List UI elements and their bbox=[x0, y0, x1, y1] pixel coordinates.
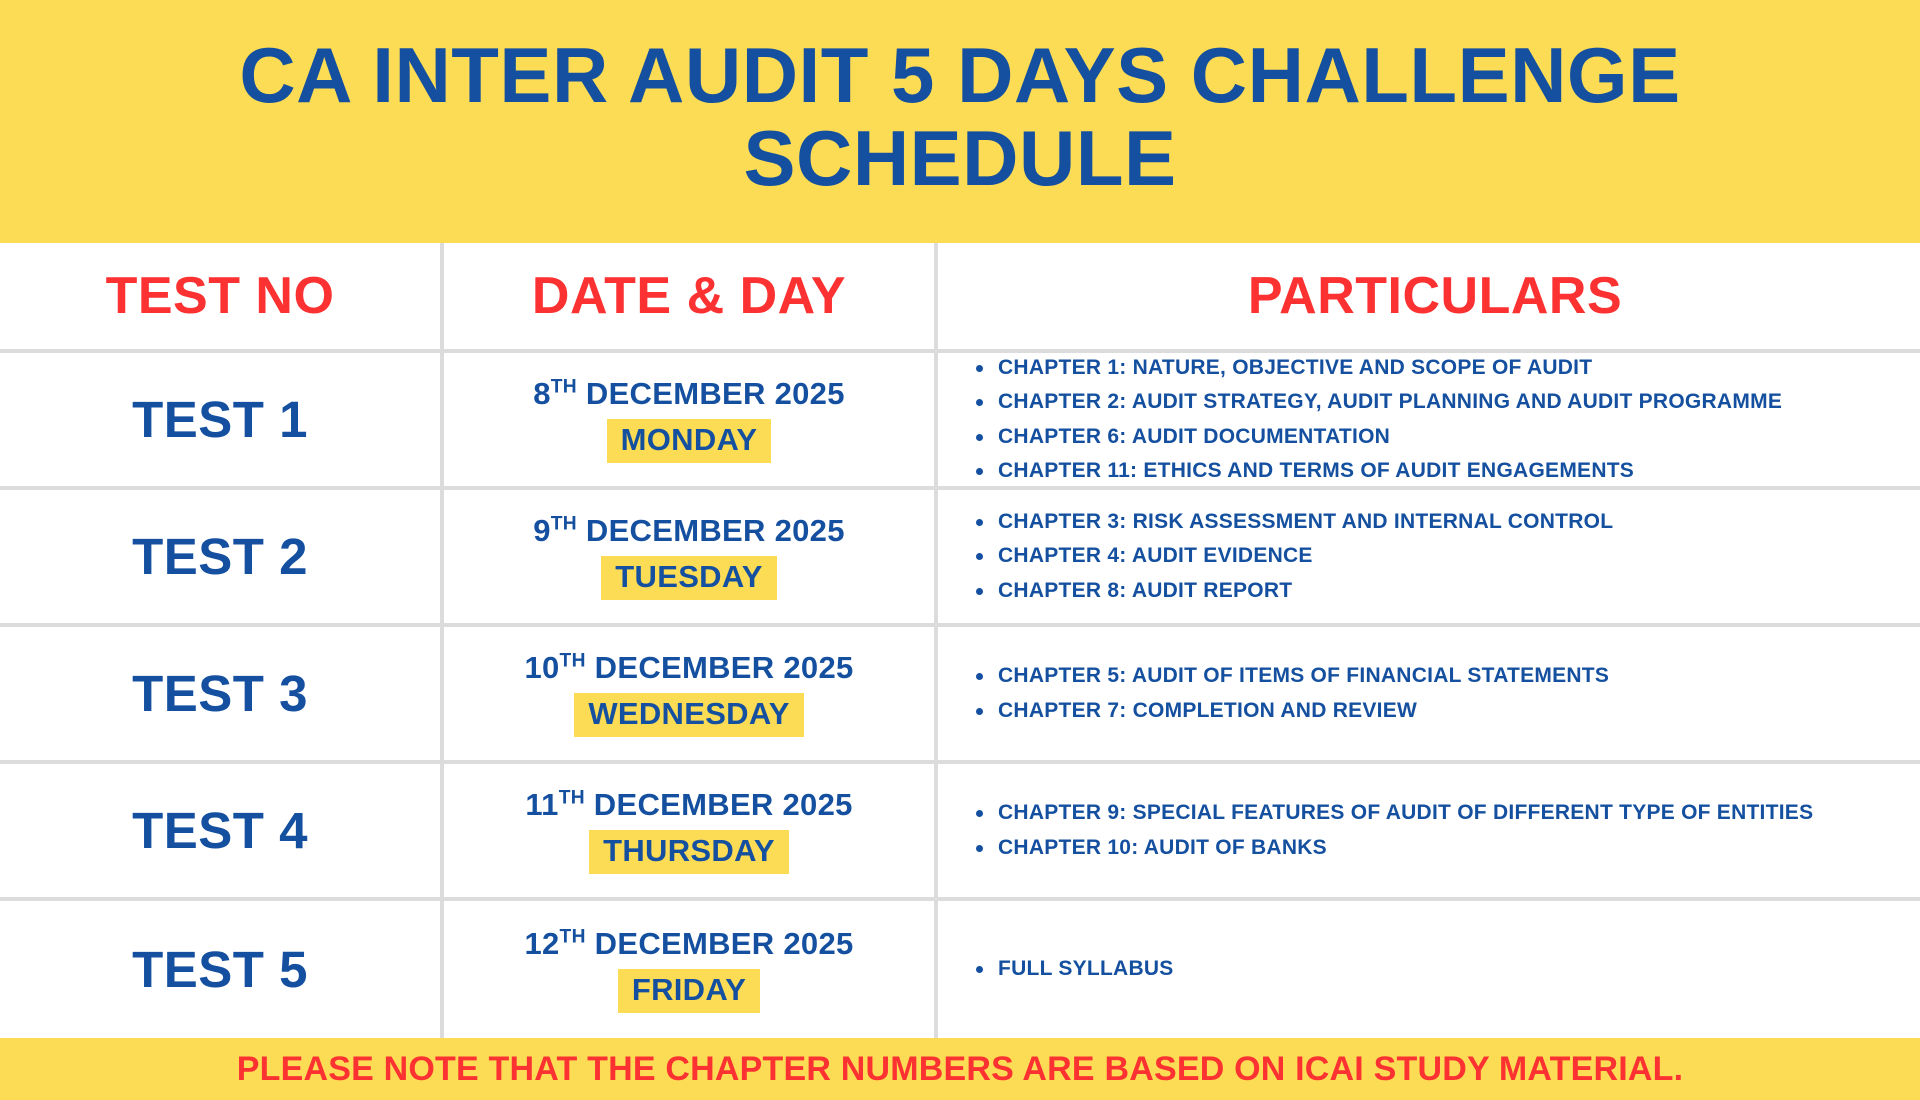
date-suffix: TH bbox=[560, 651, 586, 672]
list-item: CHAPTER 7: COMPLETION AND REVIEW bbox=[972, 694, 1898, 728]
column-header-label: TEST NO bbox=[106, 270, 335, 322]
list-item: CHAPTER 6: AUDIT DOCUMENTATION bbox=[972, 420, 1898, 454]
list-item: CHAPTER 5: AUDIT OF ITEMS OF FINANCIAL S… bbox=[972, 659, 1898, 693]
list-item: FULL SYLLABUS bbox=[972, 952, 1898, 986]
date-number: 12 bbox=[524, 926, 559, 961]
cell-particulars: CHAPTER 3: RISK ASSESSMENT AND INTERNAL … bbox=[938, 490, 1920, 623]
cell-date-day: 8TH DECEMBER 2025 MONDAY bbox=[444, 353, 938, 486]
cell-date-day: 9TH DECEMBER 2025 TUESDAY bbox=[444, 490, 938, 623]
particulars-list: CHAPTER 3: RISK ASSESSMENT AND INTERNAL … bbox=[972, 505, 1898, 607]
day-badge: WEDNESDAY bbox=[574, 693, 803, 737]
title-banner: CA INTER AUDIT 5 DAYS CHALLENGE SCHEDULE bbox=[0, 0, 1920, 243]
cell-date-day: 11TH DECEMBER 2025 THURSDAY bbox=[444, 764, 938, 897]
date-suffix: TH bbox=[559, 788, 585, 809]
list-item: CHAPTER 1: NATURE, OBJECTIVE AND SCOPE O… bbox=[972, 351, 1898, 385]
cell-test-no: TEST 3 bbox=[0, 627, 444, 760]
particulars-list: CHAPTER 9: SPECIAL FEATURES OF AUDIT OF … bbox=[972, 796, 1898, 864]
footer-banner: PLEASE NOTE THAT THE CHAPTER NUMBERS ARE… bbox=[0, 1038, 1920, 1100]
test-no-label: TEST 3 bbox=[132, 668, 308, 719]
cell-particulars: FULL SYLLABUS bbox=[938, 901, 1920, 1038]
list-item: CHAPTER 8: AUDIT REPORT bbox=[972, 574, 1898, 608]
day-badge: FRIDAY bbox=[618, 969, 760, 1013]
list-item: CHAPTER 11: ETHICS AND TERMS OF AUDIT EN… bbox=[972, 454, 1898, 488]
test-no-label: TEST 1 bbox=[132, 394, 308, 445]
date-suffix: TH bbox=[551, 377, 577, 398]
cell-particulars: CHAPTER 1: NATURE, OBJECTIVE AND SCOPE O… bbox=[938, 353, 1920, 486]
date-rest: DECEMBER 2025 bbox=[586, 650, 854, 685]
day-badge: MONDAY bbox=[607, 419, 772, 463]
table-row: TEST 2 9TH DECEMBER 2025 TUESDAY CHAPTER… bbox=[0, 490, 1920, 627]
column-header-label: DATE & DAY bbox=[532, 270, 846, 322]
cell-date-day: 10TH DECEMBER 2025 WEDNESDAY bbox=[444, 627, 938, 760]
column-header-date-day: DATE & DAY bbox=[444, 243, 938, 349]
table-header-row: TEST NO DATE & DAY PARTICULARS bbox=[0, 243, 1920, 353]
date-number: 10 bbox=[524, 650, 559, 685]
date-suffix: TH bbox=[551, 514, 577, 535]
table-row: TEST 4 11TH DECEMBER 2025 THURSDAY CHAPT… bbox=[0, 764, 1920, 901]
table-row: TEST 1 8TH DECEMBER 2025 MONDAY CHAPTER … bbox=[0, 353, 1920, 490]
date-label: 9TH DECEMBER 2025 bbox=[533, 513, 845, 549]
date-label: 10TH DECEMBER 2025 bbox=[524, 650, 853, 686]
date-rest: DECEMBER 2025 bbox=[586, 926, 854, 961]
date-suffix: TH bbox=[560, 927, 586, 948]
schedule-table: TEST NO DATE & DAY PARTICULARS TEST 1 8T… bbox=[0, 243, 1920, 1038]
test-no-label: TEST 4 bbox=[132, 805, 308, 856]
cell-date-day: 12TH DECEMBER 2025 FRIDAY bbox=[444, 901, 938, 1038]
test-no-label: TEST 2 bbox=[132, 531, 308, 582]
cell-test-no: TEST 2 bbox=[0, 490, 444, 623]
particulars-list: CHAPTER 1: NATURE, OBJECTIVE AND SCOPE O… bbox=[972, 351, 1898, 487]
day-badge: TUESDAY bbox=[601, 556, 776, 600]
footer-note: PLEASE NOTE THAT THE CHAPTER NUMBERS ARE… bbox=[237, 1052, 1683, 1086]
cell-test-no: TEST 4 bbox=[0, 764, 444, 897]
cell-particulars: CHAPTER 9: SPECIAL FEATURES OF AUDIT OF … bbox=[938, 764, 1920, 897]
date-number: 9 bbox=[533, 513, 551, 548]
date-rest: DECEMBER 2025 bbox=[577, 513, 845, 548]
cell-particulars: CHAPTER 5: AUDIT OF ITEMS OF FINANCIAL S… bbox=[938, 627, 1920, 760]
date-label: 11TH DECEMBER 2025 bbox=[525, 787, 852, 823]
table-row: TEST 3 10TH DECEMBER 2025 WEDNESDAY CHAP… bbox=[0, 627, 1920, 764]
list-item: CHAPTER 10: AUDIT OF BANKS bbox=[972, 831, 1898, 865]
particulars-list: CHAPTER 5: AUDIT OF ITEMS OF FINANCIAL S… bbox=[972, 659, 1898, 727]
date-rest: DECEMBER 2025 bbox=[577, 376, 845, 411]
date-number: 11 bbox=[525, 787, 558, 822]
cell-test-no: TEST 1 bbox=[0, 353, 444, 486]
column-header-label: PARTICULARS bbox=[1248, 270, 1622, 322]
list-item: CHAPTER 3: RISK ASSESSMENT AND INTERNAL … bbox=[972, 505, 1898, 539]
schedule-poster: CA INTER AUDIT 5 DAYS CHALLENGE SCHEDULE… bbox=[0, 0, 1920, 1100]
column-header-particulars: PARTICULARS bbox=[938, 243, 1920, 349]
particulars-list: FULL SYLLABUS bbox=[972, 952, 1898, 986]
date-label: 8TH DECEMBER 2025 bbox=[533, 376, 845, 412]
list-item: CHAPTER 4: AUDIT EVIDENCE bbox=[972, 539, 1898, 573]
page-title: CA INTER AUDIT 5 DAYS CHALLENGE SCHEDULE bbox=[60, 34, 1860, 199]
test-no-label: TEST 5 bbox=[132, 944, 308, 995]
list-item: CHAPTER 9: SPECIAL FEATURES OF AUDIT OF … bbox=[972, 796, 1898, 830]
table-row: TEST 5 12TH DECEMBER 2025 FRIDAY FULL SY… bbox=[0, 901, 1920, 1038]
column-header-test-no: TEST NO bbox=[0, 243, 444, 349]
date-number: 8 bbox=[533, 376, 551, 411]
date-label: 12TH DECEMBER 2025 bbox=[524, 926, 853, 962]
cell-test-no: TEST 5 bbox=[0, 901, 444, 1038]
list-item: CHAPTER 2: AUDIT STRATEGY, AUDIT PLANNIN… bbox=[972, 385, 1898, 419]
date-rest: DECEMBER 2025 bbox=[585, 787, 853, 822]
day-badge: THURSDAY bbox=[589, 830, 789, 874]
